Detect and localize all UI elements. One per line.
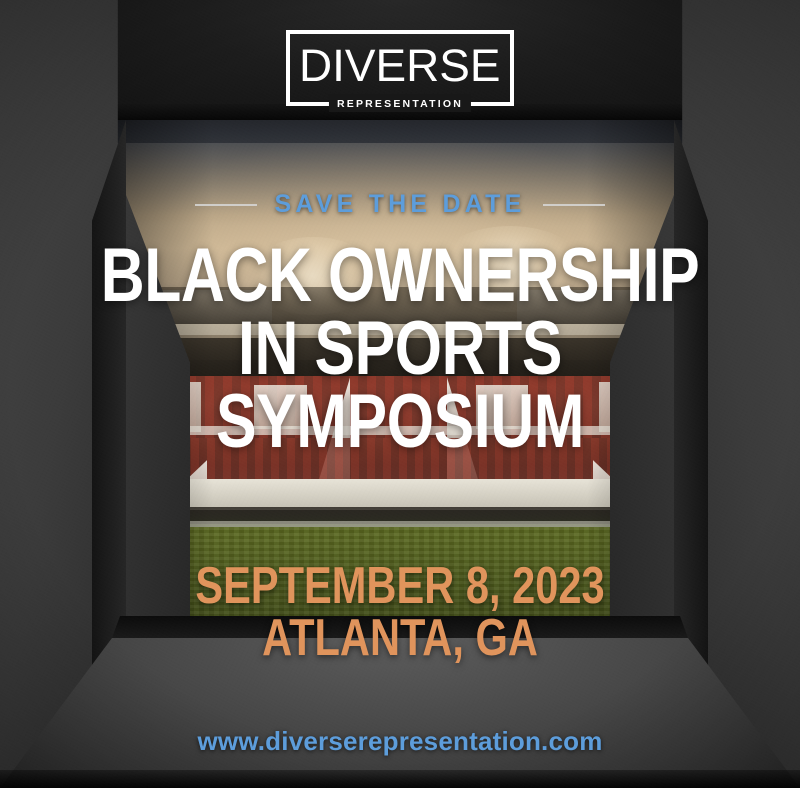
save-the-date-banner: SAVE THE DATE	[0, 190, 800, 219]
event-title-line-1: BLACK OWNERSHIP	[80, 240, 720, 313]
event-location: ATLANTA, GA	[80, 612, 720, 664]
logo-subtitle-plate: REPRESENTATION	[329, 94, 471, 112]
poster-content: DIVERSE REPRESENTATION SAVE THE DATE BLA…	[0, 0, 800, 788]
logo-wordmark: DIVERSE	[299, 43, 501, 88]
event-date: SEPTEMBER 8, 2023	[80, 560, 720, 612]
website-url[interactable]: www.diverserepresentation.com	[0, 726, 800, 757]
event-details: SEPTEMBER 8, 2023 ATLANTA, GA	[0, 560, 800, 664]
event-title-line-3: SYMPOSIUM	[80, 386, 720, 459]
rule-left	[195, 204, 257, 206]
rule-right	[543, 204, 605, 206]
event-title: BLACK OWNERSHIP IN SPORTS SYMPOSIUM	[0, 240, 800, 459]
logo-subtitle: REPRESENTATION	[337, 98, 463, 110]
event-title-line-2: IN SPORTS	[80, 313, 720, 386]
save-the-date-label: SAVE THE DATE	[275, 190, 526, 219]
save-the-date-poster: DIVERSE REPRESENTATION SAVE THE DATE BLA…	[0, 0, 800, 788]
diverse-representation-logo: DIVERSE REPRESENTATION	[286, 30, 514, 106]
